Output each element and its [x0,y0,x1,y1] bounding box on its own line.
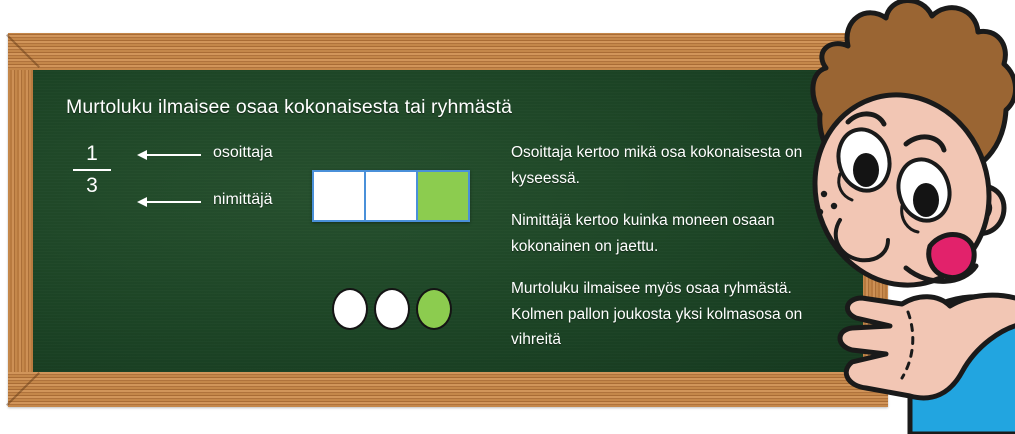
slide-canvas: Murtoluku ilmaisee osaa kokonaisesta tai… [0,0,1015,434]
cartoon-boy-illustration [790,0,1015,434]
fraction-numerator: 1 [67,140,117,168]
bar-cell [418,172,468,220]
tongue-shape [929,235,974,278]
arrow-shaft [145,154,201,156]
fraction-denominator: 3 [67,172,117,200]
fraction-divider-line [73,169,111,171]
explanation-text-block: Osoittaja kertoo mikä osa kokonaisesta o… [511,140,821,353]
explanation-paragraph-2: Nimittäjä kertoo kuinka moneen osaan kok… [511,208,821,259]
explanation-paragraph-1: Osoittaja kertoo mikä osa kokonaisesta o… [511,140,821,191]
fraction-circle-group [332,288,452,330]
freckle [831,203,837,209]
circle-dot [332,288,368,330]
arrow-left-icon-numerator [137,154,201,156]
arrow-shaft [145,201,201,203]
fraction-bar-model [312,170,470,222]
chalkboard-surface: Murtoluku ilmaisee osaa kokonaisesta tai… [33,70,863,372]
explanation-paragraph-3: Murtoluku ilmaisee myös osaa ryhmästä. K… [511,276,821,353]
arrow-left-icon-denominator [137,201,201,203]
bar-cell [314,172,364,220]
label-denominator: nimittäjä [213,191,273,209]
bar-cell [366,172,416,220]
frame-rail-top [8,33,888,70]
frame-rail-bottom [8,372,888,407]
label-numerator: osoittaja [213,144,273,162]
circle-dot [374,288,410,330]
pupil-right [913,183,939,217]
chalkboard-content: Murtoluku ilmaisee osaa kokonaisesta tai… [33,70,863,372]
circle-dot [416,288,452,330]
fraction-display: 1 3 [67,140,117,200]
chalkboard-frame: Murtoluku ilmaisee osaa kokonaisesta tai… [8,33,888,407]
freckle [821,191,827,197]
page-title: Murtoluku ilmaisee osaa kokonaisesta tai… [66,96,512,119]
freckle [817,209,823,215]
pupil-left [853,153,879,187]
